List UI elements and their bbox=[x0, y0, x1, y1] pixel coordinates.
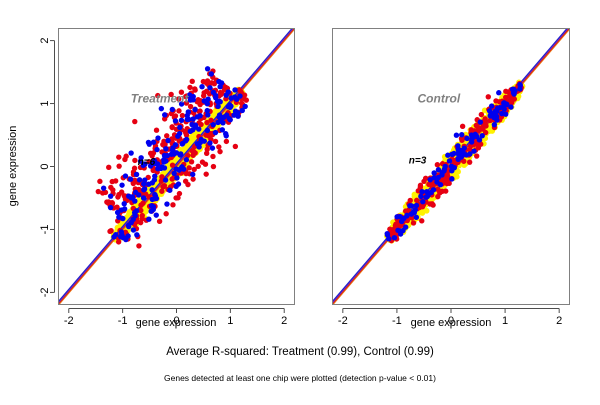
data-point bbox=[177, 125, 182, 130]
data-point bbox=[207, 85, 212, 90]
data-point bbox=[163, 146, 168, 151]
data-point bbox=[134, 172, 139, 177]
data-point bbox=[153, 193, 158, 198]
data-point bbox=[129, 220, 134, 225]
data-point bbox=[213, 93, 218, 98]
data-point bbox=[123, 237, 128, 242]
data-point bbox=[151, 168, 156, 173]
data-point bbox=[209, 71, 214, 76]
data-point bbox=[164, 201, 169, 206]
data-point bbox=[108, 205, 113, 210]
data-point bbox=[175, 195, 180, 200]
data-point bbox=[163, 211, 168, 216]
data-point bbox=[141, 195, 146, 200]
data-point bbox=[122, 157, 127, 162]
data-point bbox=[140, 201, 145, 206]
data-point bbox=[178, 151, 183, 156]
data-point bbox=[176, 108, 181, 113]
data-point bbox=[226, 89, 231, 94]
data-point bbox=[185, 182, 190, 187]
treatment-x-axis-title: gene expression bbox=[136, 317, 217, 329]
data-point bbox=[204, 120, 209, 125]
data-point bbox=[234, 97, 239, 102]
data-point bbox=[205, 101, 210, 106]
data-point bbox=[197, 102, 202, 107]
data-point bbox=[240, 108, 245, 113]
data-point bbox=[233, 144, 238, 149]
data-point bbox=[189, 159, 194, 164]
data-point bbox=[131, 227, 136, 232]
data-point bbox=[159, 106, 164, 111]
data-point bbox=[157, 219, 162, 224]
data-point bbox=[148, 151, 153, 156]
data-point bbox=[216, 144, 221, 149]
data-point bbox=[128, 177, 133, 182]
data-point bbox=[136, 243, 141, 248]
data-point bbox=[122, 201, 127, 206]
data-point bbox=[192, 167, 197, 172]
data-point bbox=[96, 189, 101, 194]
data-point bbox=[138, 220, 143, 225]
data-point bbox=[165, 138, 170, 143]
data-point bbox=[202, 138, 207, 143]
data-point bbox=[220, 127, 225, 132]
data-point bbox=[155, 166, 160, 171]
data-point bbox=[188, 129, 193, 134]
data-point bbox=[188, 97, 193, 102]
data-point bbox=[213, 139, 218, 144]
data-point bbox=[119, 182, 124, 187]
data-point bbox=[113, 178, 118, 183]
data-point bbox=[228, 117, 233, 122]
data-point bbox=[188, 104, 193, 109]
data-point bbox=[149, 203, 154, 208]
data-point bbox=[176, 167, 181, 172]
data-point bbox=[141, 187, 146, 192]
data-point bbox=[177, 131, 182, 136]
data-point bbox=[190, 79, 195, 84]
data-point bbox=[207, 140, 212, 145]
data-point bbox=[209, 80, 214, 85]
data-point bbox=[191, 150, 196, 155]
data-point bbox=[192, 86, 197, 91]
data-point bbox=[197, 113, 202, 118]
data-point bbox=[179, 118, 184, 123]
data-point bbox=[119, 232, 124, 237]
data-point bbox=[154, 212, 159, 217]
data-point bbox=[197, 108, 202, 113]
data-point bbox=[171, 171, 176, 176]
y-tick-label: 2 bbox=[39, 38, 51, 44]
data-point bbox=[210, 145, 215, 150]
data-point bbox=[132, 119, 137, 124]
data-point bbox=[130, 194, 135, 199]
data-point bbox=[116, 192, 121, 197]
data-point bbox=[217, 149, 222, 154]
data-point bbox=[101, 185, 106, 190]
data-point bbox=[232, 87, 237, 92]
data-point bbox=[162, 153, 167, 158]
data-point bbox=[154, 147, 159, 152]
data-point bbox=[224, 139, 229, 144]
data-point bbox=[110, 187, 115, 192]
data-point bbox=[163, 177, 168, 182]
data-point bbox=[184, 157, 189, 162]
data-point bbox=[205, 66, 210, 71]
data-point bbox=[205, 108, 210, 113]
data-point bbox=[190, 176, 195, 181]
data-point bbox=[107, 229, 112, 234]
data-point bbox=[173, 184, 178, 189]
data-point bbox=[233, 109, 238, 114]
x-tick-label: 1 bbox=[227, 315, 233, 327]
y-tick-label: 1 bbox=[39, 100, 51, 106]
data-point bbox=[205, 128, 210, 133]
data-point bbox=[190, 172, 195, 177]
data-point bbox=[173, 118, 178, 123]
data-point bbox=[170, 145, 175, 150]
data-point bbox=[211, 122, 216, 127]
x-tick-label: -1 bbox=[118, 315, 128, 327]
data-point bbox=[169, 125, 174, 130]
data-point bbox=[219, 80, 224, 85]
y-tick-label: -2 bbox=[39, 288, 51, 298]
data-point bbox=[164, 133, 169, 138]
x-tick-label: -2 bbox=[64, 315, 74, 327]
data-point bbox=[141, 181, 146, 186]
data-point bbox=[183, 138, 188, 143]
data-point bbox=[149, 187, 154, 192]
data-point bbox=[146, 216, 151, 221]
data-point bbox=[146, 181, 151, 186]
data-point bbox=[128, 150, 133, 155]
scatter-figure: -2-1012-2-1012 Treatment n=6 gene expres… bbox=[0, 0, 600, 400]
data-point bbox=[235, 113, 240, 118]
data-point bbox=[159, 189, 164, 194]
data-point bbox=[228, 103, 233, 108]
data-point bbox=[162, 112, 167, 117]
data-point bbox=[170, 107, 175, 112]
data-point bbox=[97, 179, 102, 184]
treatment-n-label: n=6 bbox=[138, 157, 156, 168]
plot-canvas: -2-1012-2-1012 Treatment n=6 gene expres… bbox=[0, 0, 600, 400]
data-point bbox=[215, 104, 220, 109]
data-point bbox=[174, 175, 179, 180]
data-point bbox=[169, 152, 174, 157]
treatment-panel-title: Treatment bbox=[131, 91, 190, 105]
data-point bbox=[170, 202, 175, 207]
data-point bbox=[108, 193, 113, 198]
data-point bbox=[200, 159, 205, 164]
data-point bbox=[167, 188, 172, 193]
data-point bbox=[187, 85, 192, 90]
data-point bbox=[185, 117, 190, 122]
y-tick-label: 0 bbox=[39, 163, 51, 169]
data-point bbox=[244, 97, 249, 102]
data-point bbox=[221, 114, 226, 119]
treatment-y-axis-title: gene expression bbox=[7, 126, 19, 207]
data-point bbox=[205, 97, 210, 102]
data-point bbox=[133, 190, 138, 195]
figure-background bbox=[0, 0, 600, 400]
data-point bbox=[195, 141, 200, 146]
data-point bbox=[192, 107, 197, 112]
data-point bbox=[116, 163, 121, 168]
data-point bbox=[155, 135, 160, 140]
data-point bbox=[215, 99, 220, 104]
data-point bbox=[152, 177, 157, 182]
data-point bbox=[119, 207, 124, 212]
data-point bbox=[134, 232, 139, 237]
data-point bbox=[123, 173, 128, 178]
data-point bbox=[211, 164, 216, 169]
data-point bbox=[161, 159, 166, 164]
data-point bbox=[116, 154, 121, 159]
data-point bbox=[116, 214, 121, 219]
data-point bbox=[210, 154, 215, 159]
x-tick-label: 2 bbox=[281, 315, 287, 327]
data-point bbox=[203, 171, 208, 176]
data-point bbox=[137, 177, 142, 182]
data-point bbox=[199, 84, 204, 89]
data-point bbox=[180, 113, 185, 118]
data-point bbox=[213, 130, 218, 135]
data-point bbox=[183, 129, 188, 134]
y-tick-label: -1 bbox=[39, 225, 51, 235]
data-point bbox=[113, 232, 118, 237]
data-point bbox=[134, 208, 139, 213]
data-point bbox=[154, 127, 159, 132]
data-point bbox=[133, 213, 138, 218]
data-point bbox=[106, 165, 111, 170]
data-point bbox=[193, 122, 198, 127]
data-point bbox=[147, 141, 152, 146]
data-point bbox=[148, 209, 153, 214]
